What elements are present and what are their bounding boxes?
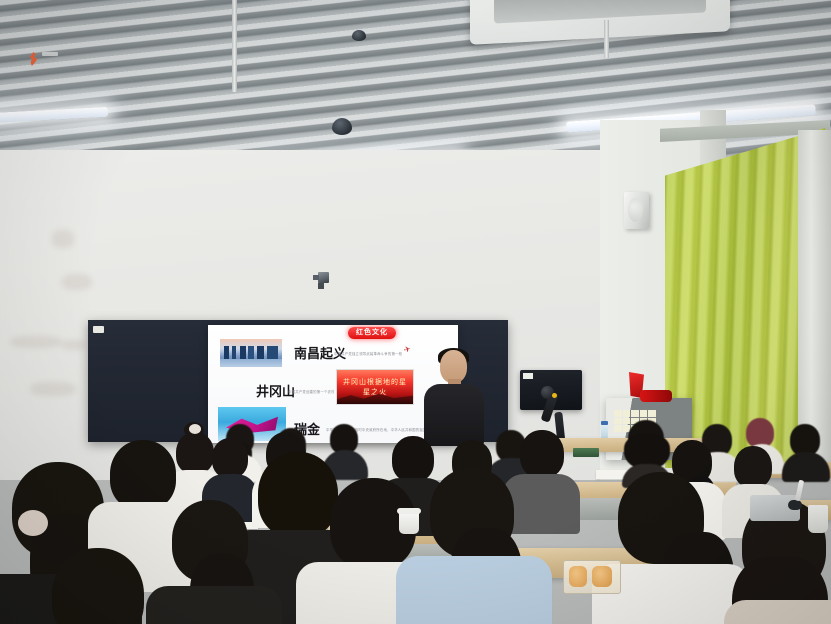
podium-button[interactable] (631, 410, 639, 417)
slide-subtitle-2: 中国共产党创建的第一个农村革命根据地 (288, 389, 334, 394)
wall-stain-1 (52, 230, 74, 248)
wall-speaker-icon (624, 192, 649, 229)
podium-button[interactable] (623, 410, 631, 417)
bread-package (563, 560, 621, 594)
podium-button[interactable] (623, 418, 631, 425)
surveillance-dome-2 (352, 30, 366, 41)
hair-scrunchie (18, 510, 48, 536)
student-head (258, 452, 338, 538)
hair-scrunchie (189, 424, 201, 434)
student-body (396, 556, 552, 624)
blackboard-label (93, 326, 104, 333)
podium-button[interactable] (640, 410, 648, 417)
student-head (520, 430, 564, 478)
paper-cup (399, 512, 419, 534)
slide-title-badge: 红色文化 (348, 327, 396, 339)
presenter (418, 350, 490, 445)
wall-stain-5 (62, 340, 86, 350)
student-head (212, 438, 248, 478)
student-head (392, 436, 434, 482)
monitor-label (523, 373, 533, 379)
slide-image-red-banner: 井冈山根据地的星星之火 (336, 369, 414, 405)
wall-stain-4 (30, 382, 76, 396)
bottle-cap (601, 421, 608, 425)
arm-adjust-knob[interactable] (552, 393, 557, 398)
presenter-shirt (424, 384, 484, 446)
podium-button[interactable] (614, 410, 622, 417)
student-body (146, 586, 282, 624)
green-book (573, 448, 599, 457)
ceiling-fan-rod-right-2 (604, 20, 609, 58)
slide-subtitle-1: 中国共产党独立领导武装革命斗争的第一枪 (334, 351, 402, 356)
wall-stain-2 (62, 274, 92, 290)
ceiling-fan-rod-left (232, 0, 237, 92)
tablet-camera-icon (788, 500, 802, 510)
ac-grille (494, 0, 706, 24)
slide-arrow-mark: ✈ (403, 344, 412, 355)
red-cloth (640, 390, 672, 402)
surveillance-dome-1 (332, 118, 352, 135)
pen (795, 480, 804, 502)
camera-mount (318, 283, 324, 289)
podium-button[interactable] (648, 410, 656, 417)
podium-button[interactable] (614, 418, 622, 425)
student-head (110, 440, 176, 510)
classroom-photo: 红色文化 井冈山根据地的星星之火 南昌起义 中国共产党独立领导武装革命斗争的第一… (0, 0, 831, 624)
paper-cup-right (808, 505, 828, 533)
wall-stain-3 (10, 336, 62, 348)
paper-cup-lid (397, 508, 421, 514)
student-head (176, 432, 214, 474)
presenter-chest-text (42, 52, 58, 56)
podium-button[interactable] (614, 425, 622, 432)
student-body (724, 600, 831, 624)
slide-image-red-caption: 井冈山根据地的星星之火 (341, 377, 409, 397)
slide-image-nanchang (220, 339, 282, 367)
student-head (734, 446, 772, 488)
